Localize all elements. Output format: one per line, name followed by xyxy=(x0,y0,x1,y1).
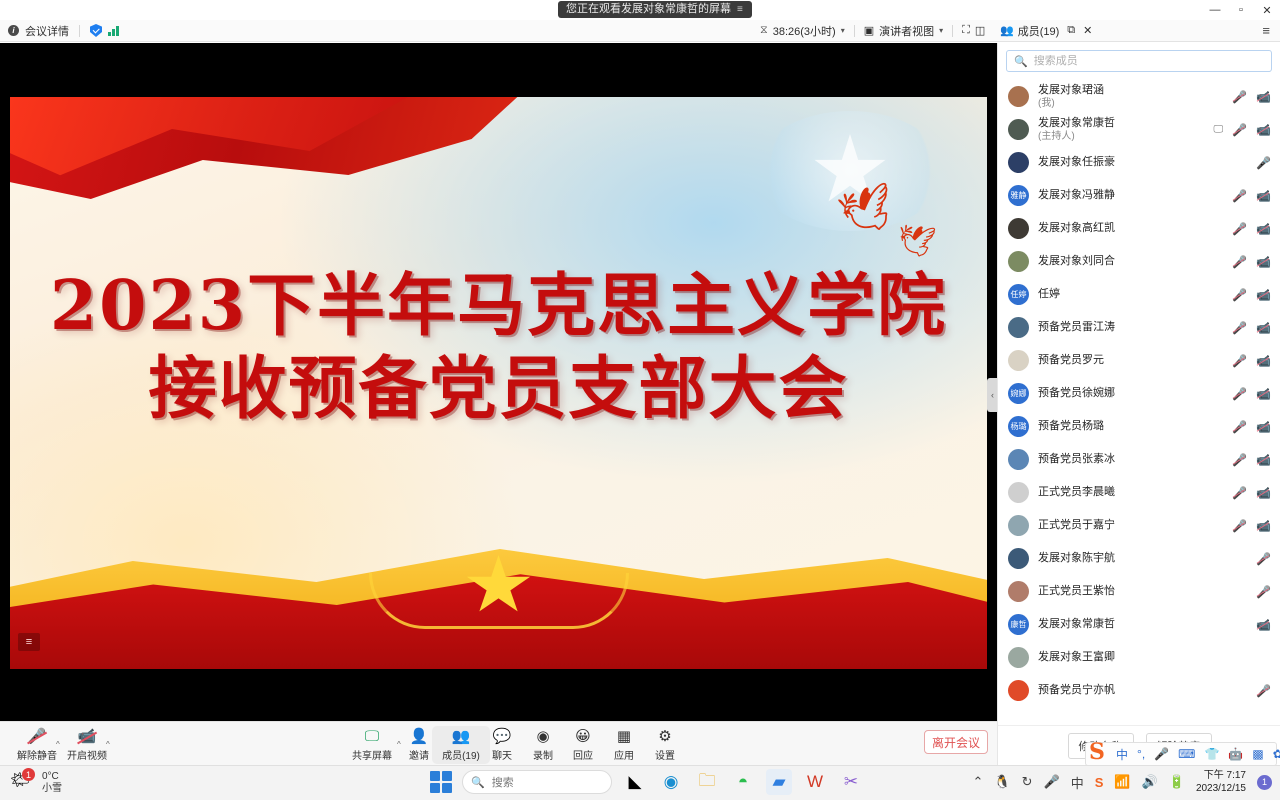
participant-row[interactable]: 发展对象高红凯🎤📹 xyxy=(998,212,1280,245)
weather-condition: 小雪 xyxy=(42,783,62,795)
participant-row[interactable]: 正式党员王紫怡🎤 xyxy=(998,575,1280,608)
presentation-slide: 🕊 🕊 2023下半年马克思主义学院 接收预备党员支部大会 马克思主义学院学生第… xyxy=(10,97,987,669)
dove-icon: 🕊 xyxy=(895,224,937,259)
avatar: 任婷 xyxy=(1008,284,1029,305)
participant-row[interactable]: 发展对象刘同合🎤📹 xyxy=(998,245,1280,278)
participant-row[interactable]: 预备党员雷江涛🎤📹 xyxy=(998,311,1280,344)
sogou-icon[interactable]: S xyxy=(1095,775,1104,790)
participant-name: 预备党员罗元 xyxy=(1038,354,1104,367)
ime-apps-icon[interactable]: ▩ xyxy=(1252,747,1263,761)
taskbar-center: 🔍 搜索 ◣ ◉ 🗀 ◓ ▰ W ✂ xyxy=(430,769,864,795)
close-panel-icon[interactable]: ✕ xyxy=(1083,24,1092,37)
settings-button[interactable]: ⚙ 设置 xyxy=(636,726,694,764)
microphone-muted-icon[interactable]: 🎤 xyxy=(1256,552,1271,566)
window-title-bar: 您正在观看发展对象常康哲的屏幕 ≡ — ▫ ✕ xyxy=(0,0,1280,20)
avatar xyxy=(1008,350,1029,371)
invite-icon: 👤 xyxy=(410,729,429,745)
camera-muted-icon[interactable]: 📹 xyxy=(1256,123,1271,137)
windows-taskbar: 🌤 1 0°C 小雪 🔍 搜索 ◣ ◉ 🗀 ◓ ▰ W ✂ ⌃ 🐧 xyxy=(0,765,1280,800)
fullscreen-icon[interactable]: ⛶ xyxy=(962,24,970,37)
participant-row[interactable]: 预备党员张素冰🎤📹 xyxy=(998,443,1280,476)
meeting-duration: 38:26(3小时) xyxy=(773,23,836,39)
participant-name: 预备党员雷江涛 xyxy=(1038,321,1115,334)
participant-name: 发展对象刘同合 xyxy=(1038,255,1115,268)
ime-robot-icon[interactable]: 🤖 xyxy=(1228,747,1243,761)
meeting-details-group[interactable]: i 会议详情 xyxy=(0,23,119,39)
view-mode-label[interactable]: 演讲者视图 xyxy=(879,23,934,39)
record-icon: ◉ xyxy=(536,729,549,745)
camera-muted-icon[interactable]: 📹 xyxy=(1256,321,1271,335)
lenovo-icon[interactable]: ◣ xyxy=(622,769,648,795)
avatar xyxy=(1008,86,1029,107)
microphone-active-icon[interactable]: 🎤 xyxy=(1256,156,1271,170)
snipping-tool-icon[interactable]: ✂ xyxy=(838,769,864,795)
members-tab[interactable]: 👥 成员(19) xyxy=(1000,23,1059,39)
avatar xyxy=(1008,482,1029,503)
participant-name: 发展对象冯雅静 xyxy=(1038,189,1115,202)
camera-muted-icon[interactable]: 📹 xyxy=(1256,519,1271,533)
camera-muted-icon[interactable]: 📹 xyxy=(1256,189,1271,203)
meeting-top-toolbar: i 会议详情 ⧖ 38:26(3小时) ▾ ▣ 演讲者视图 ▾ ⛶ ◫ 👥 成员… xyxy=(0,20,1280,42)
weather-text: 0°C 小雪 xyxy=(42,771,62,795)
popout-panel-icon[interactable]: ⧉ xyxy=(1067,24,1075,37)
avatar: 杨璐 xyxy=(1008,416,1029,437)
search-input[interactable] xyxy=(1034,55,1264,67)
clock-time: 下午 7:17 xyxy=(1196,769,1246,782)
participant-row[interactable]: 任婷任婷🎤📹 xyxy=(998,278,1280,311)
system-tray: ⌃ 🐧 ↻ 🎤 中 S 📶 🔊 🔋 下午 7:17 2023/12/15 1 xyxy=(973,769,1273,795)
participant-row[interactable]: 发展对象珺涵(我)🎤📹 xyxy=(998,80,1280,113)
microphone-muted-icon[interactable]: 🎤 xyxy=(1232,222,1247,236)
participant-name: 发展对象王富卿 xyxy=(1038,651,1115,664)
record-button-label: 录制 xyxy=(533,747,553,762)
participant-role: (我) xyxy=(1038,97,1104,110)
maximize-icon[interactable]: ▫ xyxy=(1228,0,1254,20)
participant-row[interactable]: 康哲发展对象常康哲📹 xyxy=(998,608,1280,641)
top-toolbar-right: 👥 成员(19) ⧉ ✕ xyxy=(1000,23,1092,39)
microphone-muted-icon[interactable]: 🎤 xyxy=(1256,684,1271,698)
members-tab-label: 成员(19) xyxy=(1018,23,1060,39)
microphone-muted-icon: 🎤 xyxy=(28,729,47,745)
share-screen-icon: 🖵 xyxy=(365,729,379,745)
avatar xyxy=(1008,218,1029,239)
close-icon[interactable]: ✕ xyxy=(1254,0,1280,20)
avatar xyxy=(1008,581,1029,602)
chat-icon: 💬 xyxy=(493,729,512,745)
taskbar-search-box[interactable]: 🔍 搜索 xyxy=(462,770,612,794)
participant-name: 预备党员徐婉娜 xyxy=(1038,387,1115,400)
participant-name: 任婷 xyxy=(1038,288,1060,301)
tray-microphone-icon[interactable]: 🎤 xyxy=(1044,774,1060,790)
shared-screen-stage[interactable]: 🕊 🕊 2023下半年马克思主义学院 接收预备党员支部大会 马克思主义学院学生第… xyxy=(0,43,997,721)
wechat-icon[interactable]: ◓ xyxy=(730,769,756,795)
apps-grid-icon: ▦ xyxy=(617,729,631,745)
sync-icon[interactable]: ↻ xyxy=(1022,774,1033,790)
windows-start-icon[interactable] xyxy=(430,771,452,793)
search-wrapper: 🔍 xyxy=(998,43,1280,78)
camera-muted-icon[interactable]: 📹 xyxy=(1256,354,1271,368)
search-icon: 🔍 xyxy=(471,776,485,789)
ime-more-icon[interactable]: ✿ xyxy=(1273,747,1280,761)
microphone-muted-icon[interactable]: 🎤 xyxy=(1232,420,1247,434)
participant-name: 正式党员于嘉宁 xyxy=(1038,519,1115,532)
window-controls: — ▫ ✕ xyxy=(1202,0,1280,20)
view-chevron-down-icon[interactable]: ▾ xyxy=(939,26,943,35)
screen-share-icon: 🖵 xyxy=(1213,124,1223,135)
participant-status-icons: 🎤📹 xyxy=(1232,255,1271,269)
members-icon: 👥 xyxy=(452,729,471,745)
divider xyxy=(952,25,953,37)
dove-icon: 🕊 xyxy=(835,183,900,239)
participant-row[interactable]: 发展对象王富卿 xyxy=(998,641,1280,674)
microphone-muted-icon[interactable]: 🎤 xyxy=(1256,585,1271,599)
participant-name: 发展对象陈宇航 xyxy=(1038,552,1115,565)
hamburger-menu-icon[interactable]: ≡ xyxy=(1262,23,1270,38)
participant-row[interactable]: 正式党员李晨曦🎤📹 xyxy=(998,476,1280,509)
view-mode-icon: ▣ xyxy=(864,24,874,37)
avatar xyxy=(1008,548,1029,569)
participants-panel: 🔍 发展对象珺涵(我)🎤📹发展对象常康哲(主持人)🖵🎤📹发展对象任振豪🎤雅静发展… xyxy=(997,43,1280,765)
file-explorer-icon[interactable]: 🗀 xyxy=(694,769,720,795)
info-icon: i xyxy=(8,25,19,36)
microphone-muted-icon[interactable]: 🎤 xyxy=(1232,387,1247,401)
participant-row[interactable]: 发展对象陈宇航🎤 xyxy=(998,542,1280,575)
minimize-icon[interactable]: — xyxy=(1202,0,1228,20)
ime-mode-icon[interactable]: 中 xyxy=(1071,773,1084,792)
participant-name: 发展对象常康哲 xyxy=(1038,618,1115,631)
avatar xyxy=(1008,152,1029,173)
microphone-muted-icon[interactable]: 🎤 xyxy=(1232,486,1247,500)
avatar xyxy=(1008,251,1029,272)
reaction-button-label: 回应 xyxy=(573,747,593,762)
ime-keyboard-icon[interactable]: ⌨ xyxy=(1178,747,1195,761)
share-banner-menu-icon[interactable]: ≡ xyxy=(737,1,744,18)
participant-status-icons: 🎤 xyxy=(1256,684,1271,698)
participant-status-icons: 🎤📹 xyxy=(1232,420,1271,434)
slide-title-line-2: 接收预备党员支部大会 xyxy=(10,347,987,431)
microphone-muted-icon[interactable]: 🎤 xyxy=(1232,354,1247,368)
participant-row[interactable]: 发展对象任振豪🎤 xyxy=(998,146,1280,179)
microphone-muted-icon[interactable]: 🎤 xyxy=(1232,288,1247,302)
avatar xyxy=(1008,317,1029,338)
participant-name: 预备党员杨璐 xyxy=(1038,420,1104,433)
participant-name: 预备党员宁亦帆 xyxy=(1038,684,1115,697)
avatar xyxy=(1008,515,1029,536)
video-options-chevron-icon[interactable]: ^ xyxy=(106,740,110,749)
invite-button-label: 邀请 xyxy=(409,747,429,762)
reaction-icon: 😀 xyxy=(575,729,591,745)
duration-chevron-down-icon[interactable]: ▾ xyxy=(841,26,845,35)
camera-muted-icon[interactable]: 📹 xyxy=(1256,387,1271,401)
slide-title-line-1: 2023下半年马克思主义学院 xyxy=(10,265,987,347)
camera-muted-icon[interactable]: 📹 xyxy=(1256,420,1271,434)
microphone-muted-icon[interactable]: 🎤 xyxy=(1232,189,1247,203)
split-view-icon[interactable]: ◫ xyxy=(975,24,985,37)
avatar xyxy=(1008,119,1029,140)
participant-name: 正式党员李晨曦 xyxy=(1038,486,1115,499)
avatar xyxy=(1008,647,1029,668)
members-icon: 👥 xyxy=(1000,24,1014,37)
microphone-muted-icon[interactable]: 🎤 xyxy=(1232,123,1247,137)
weather-temperature: 0°C xyxy=(42,771,62,783)
avatar xyxy=(1008,449,1029,470)
participant-status-icons: 🎤📹 xyxy=(1232,222,1271,236)
start-video-button[interactable]: 📹 开启视频 ^ xyxy=(58,726,116,764)
leave-meeting-button[interactable]: 离开会议 xyxy=(924,730,988,754)
slide-list-icon[interactable]: ≡ xyxy=(18,633,40,651)
meeting-bottom-toolbar: 🎤 解除静音 ^ 📹 开启视频 ^ 🖵 共享屏幕 ^ 👤 邀请 👥 成员(19)… xyxy=(0,721,997,765)
participant-list[interactable]: 发展对象珺涵(我)🎤📹发展对象常康哲(主持人)🖵🎤📹发展对象任振豪🎤雅静发展对象… xyxy=(998,80,1280,748)
participant-row[interactable]: 预备党员罗元🎤📹 xyxy=(998,344,1280,377)
participant-name: 发展对象常康哲(主持人) xyxy=(1038,117,1115,143)
sogou-logo-icon: S xyxy=(1089,739,1105,765)
microphone-muted-icon[interactable]: 🎤 xyxy=(1232,519,1247,533)
slide-title: 2023下半年马克思主义学院 接收预备党员支部大会 xyxy=(10,265,987,431)
ime-mode-icon[interactable]: 中 xyxy=(1116,746,1128,763)
meeting-details-label: 会议详情 xyxy=(25,23,69,39)
unmute-button-label: 解除静音 xyxy=(17,747,57,762)
participant-name: 发展对象高红凯 xyxy=(1038,222,1115,235)
sogou-ime-bar[interactable]: S 中 °, 🎤 ⌨ 👕 🤖 ▩ ✿ xyxy=(1085,742,1277,766)
participant-row[interactable]: 杨璐预备党员杨璐🎤📹 xyxy=(998,410,1280,443)
weather-widget[interactable]: 🌤 1 0°C 小雪 xyxy=(10,770,62,796)
edge-icon[interactable]: ◉ xyxy=(658,769,684,795)
qq-icon[interactable]: 🐧 xyxy=(994,774,1010,790)
camera-muted-icon[interactable]: 📹 xyxy=(1256,618,1271,632)
camera-muted-icon[interactable]: 📹 xyxy=(1256,90,1271,104)
participant-status-icons: 📹 xyxy=(1256,618,1271,632)
notification-badge: 1 xyxy=(22,768,35,781)
taskbar-clock[interactable]: 下午 7:17 2023/12/15 xyxy=(1196,769,1246,795)
camera-muted-icon[interactable]: 📹 xyxy=(1256,222,1271,236)
avatar: 康哲 xyxy=(1008,614,1029,635)
participant-row[interactable]: 正式党员于嘉宁🎤📹 xyxy=(998,509,1280,542)
start-video-button-label: 开启视频 xyxy=(67,747,107,762)
camera-muted-icon[interactable]: 📹 xyxy=(1256,288,1271,302)
ime-punctuation-icon[interactable]: °, xyxy=(1137,747,1145,761)
participant-name: 正式党员王紫怡 xyxy=(1038,585,1115,598)
chat-button-label: 聊天 xyxy=(492,747,512,762)
volume-icon[interactable]: 🔊 xyxy=(1142,774,1158,790)
clock-date: 2023/12/15 xyxy=(1196,782,1246,795)
taskbar-search-placeholder: 搜索 xyxy=(492,774,514,790)
microphone-muted-icon[interactable]: 🎤 xyxy=(1232,321,1247,335)
participant-name: 发展对象珺涵(我) xyxy=(1038,84,1104,110)
weather-icon: 🌤 1 xyxy=(10,770,36,796)
participant-name: 发展对象任振豪 xyxy=(1038,156,1115,169)
participant-role: (主持人) xyxy=(1038,130,1115,143)
signal-bars-icon[interactable] xyxy=(108,25,119,36)
microphone-muted-icon[interactable]: 🎤 xyxy=(1232,90,1247,104)
ime-voice-icon[interactable]: 🎤 xyxy=(1154,747,1169,761)
participant-status-icons: 🎤📹 xyxy=(1232,519,1271,533)
participant-status-icons: 🎤 xyxy=(1256,156,1271,170)
participant-status-icons: 🎤📹 xyxy=(1232,354,1271,368)
participant-status-icons: 🎤📹 xyxy=(1232,288,1271,302)
camera-muted-icon[interactable]: 📹 xyxy=(1256,486,1271,500)
apps-button-label: 应用 xyxy=(614,747,634,762)
divider xyxy=(854,25,855,37)
participant-status-icons: 🎤📹 xyxy=(1232,387,1271,401)
notification-center-badge[interactable]: 1 xyxy=(1257,775,1272,790)
tray-chevron-up-icon[interactable]: ⌃ xyxy=(973,774,984,790)
top-toolbar-center: ⧖ 38:26(3小时) ▾ ▣ 演讲者视图 ▾ ⛶ ◫ xyxy=(760,23,985,39)
share-screen-button-label: 共享屏幕 xyxy=(352,747,392,762)
camera-muted-icon[interactable]: 📹 xyxy=(1256,255,1271,269)
avatar xyxy=(1008,680,1029,701)
camera-muted-icon: 📹 xyxy=(78,729,97,745)
share-banner-text: 您正在观看发展对象常康哲的屏幕 xyxy=(566,1,731,18)
avatar: 婉娜 xyxy=(1008,383,1029,404)
participant-status-icons: 🎤 xyxy=(1256,552,1271,566)
divider xyxy=(79,25,80,37)
participant-row[interactable]: 发展对象常康哲(主持人)🖵🎤📹 xyxy=(998,113,1280,146)
gear-icon: ⚙ xyxy=(658,729,671,745)
shield-check-icon[interactable] xyxy=(90,24,102,37)
wps-icon[interactable]: W xyxy=(802,769,828,795)
screen-root: 您正在观看发展对象常康哲的屏幕 ≡ — ▫ ✕ i 会议详情 ⧖ 38:26(3… xyxy=(0,0,1280,800)
screen-share-banner: 您正在观看发展对象常康哲的屏幕 ≡ xyxy=(558,1,752,18)
participant-status-icons: 🎤📹 xyxy=(1232,90,1271,104)
participant-name: 预备党员张素冰 xyxy=(1038,453,1115,466)
participant-row[interactable]: 婉娜预备党员徐婉娜🎤📹 xyxy=(998,377,1280,410)
microphone-muted-icon[interactable]: 🎤 xyxy=(1232,453,1247,467)
tencent-meeting-icon[interactable]: ▰ xyxy=(766,769,792,795)
search-box[interactable]: 🔍 xyxy=(1006,50,1272,72)
timer-icon: ⧖ xyxy=(760,24,768,37)
participant-row[interactable]: 预备党员宁亦帆🎤 xyxy=(998,674,1280,707)
settings-button-label: 设置 xyxy=(655,747,675,762)
wifi-icon[interactable]: 📶 xyxy=(1114,774,1130,790)
ime-skin-icon[interactable]: 👕 xyxy=(1204,747,1219,761)
search-icon: 🔍 xyxy=(1014,55,1028,68)
battery-icon[interactable]: 🔋 xyxy=(1169,774,1185,790)
microphone-muted-icon[interactable]: 🎤 xyxy=(1232,255,1247,269)
participant-status-icons: 🖵🎤📹 xyxy=(1213,123,1271,137)
camera-muted-icon[interactable]: 📹 xyxy=(1256,453,1271,467)
participant-status-icons: 🎤📹 xyxy=(1232,189,1271,203)
participant-row[interactable]: 雅静发展对象冯雅静🎤📹 xyxy=(998,179,1280,212)
participant-status-icons: 🎤📹 xyxy=(1232,486,1271,500)
participant-status-icons: 🎤📹 xyxy=(1232,453,1271,467)
participant-status-icons: 🎤📹 xyxy=(1232,321,1271,335)
avatar: 雅静 xyxy=(1008,185,1029,206)
participant-status-icons: 🎤 xyxy=(1256,585,1271,599)
